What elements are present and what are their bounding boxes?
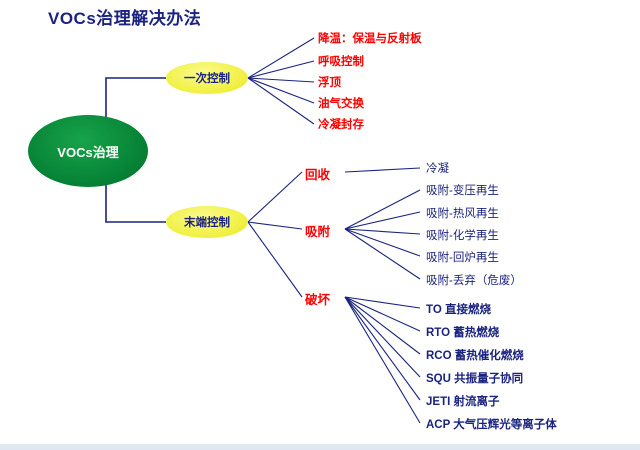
leaf-first-control-3: 浮顶 bbox=[318, 74, 341, 90]
mid-node-destruction[interactable]: 破坏 bbox=[305, 289, 330, 308]
leaf-first-control-4: 油气交换 bbox=[318, 95, 364, 111]
leaf-destruction-5: JETI 射流离子 bbox=[426, 393, 499, 409]
leaf-destruction-4: SQU 共振量子协同 bbox=[426, 370, 523, 386]
leaf-destruction-1: TO 直接燃烧 bbox=[426, 301, 491, 317]
root-node[interactable]: VOCs治理 bbox=[28, 115, 148, 187]
leaf-recovery-1: 冷凝 bbox=[426, 160, 449, 176]
leaf-destruction-6: ACP 大气压辉光等离子体 bbox=[426, 416, 557, 432]
leaf-destruction-2: RTO 蓄热燃烧 bbox=[426, 324, 499, 340]
branch-node-first-control[interactable]: 一次控制 bbox=[166, 62, 248, 94]
leaf-adsorption-2: 吸附-热风再生 bbox=[426, 205, 499, 221]
branch-node-end-control-label: 末端控制 bbox=[184, 214, 230, 230]
mid-node-adsorption[interactable]: 吸附 bbox=[305, 221, 330, 240]
mid-node-recovery[interactable]: 回收 bbox=[305, 164, 330, 183]
leaf-first-control-1: 降温：保温与反射板 bbox=[318, 30, 422, 46]
leaf-adsorption-3: 吸附-化学再生 bbox=[426, 227, 499, 243]
leaf-destruction-3: RCO 蓄热催化燃烧 bbox=[426, 347, 524, 363]
leaf-adsorption-5: 吸附-丢弃（危废） bbox=[426, 272, 522, 288]
bottom-divider bbox=[0, 444, 640, 450]
leaf-first-control-2: 呼吸控制 bbox=[318, 53, 364, 69]
branch-node-first-control-label: 一次控制 bbox=[184, 70, 230, 86]
root-node-label: VOCs治理 bbox=[57, 142, 118, 161]
leaf-adsorption-4: 吸附-回炉再生 bbox=[426, 249, 499, 265]
leaf-first-control-5: 冷凝封存 bbox=[318, 116, 364, 132]
mindmap-canvas: VOCs治理解决办法 VOCs治理 一次控制 bbox=[0, 0, 640, 450]
branch-node-end-control[interactable]: 末端控制 bbox=[166, 206, 248, 238]
leaf-adsorption-1: 吸附-变压再生 bbox=[426, 182, 499, 198]
